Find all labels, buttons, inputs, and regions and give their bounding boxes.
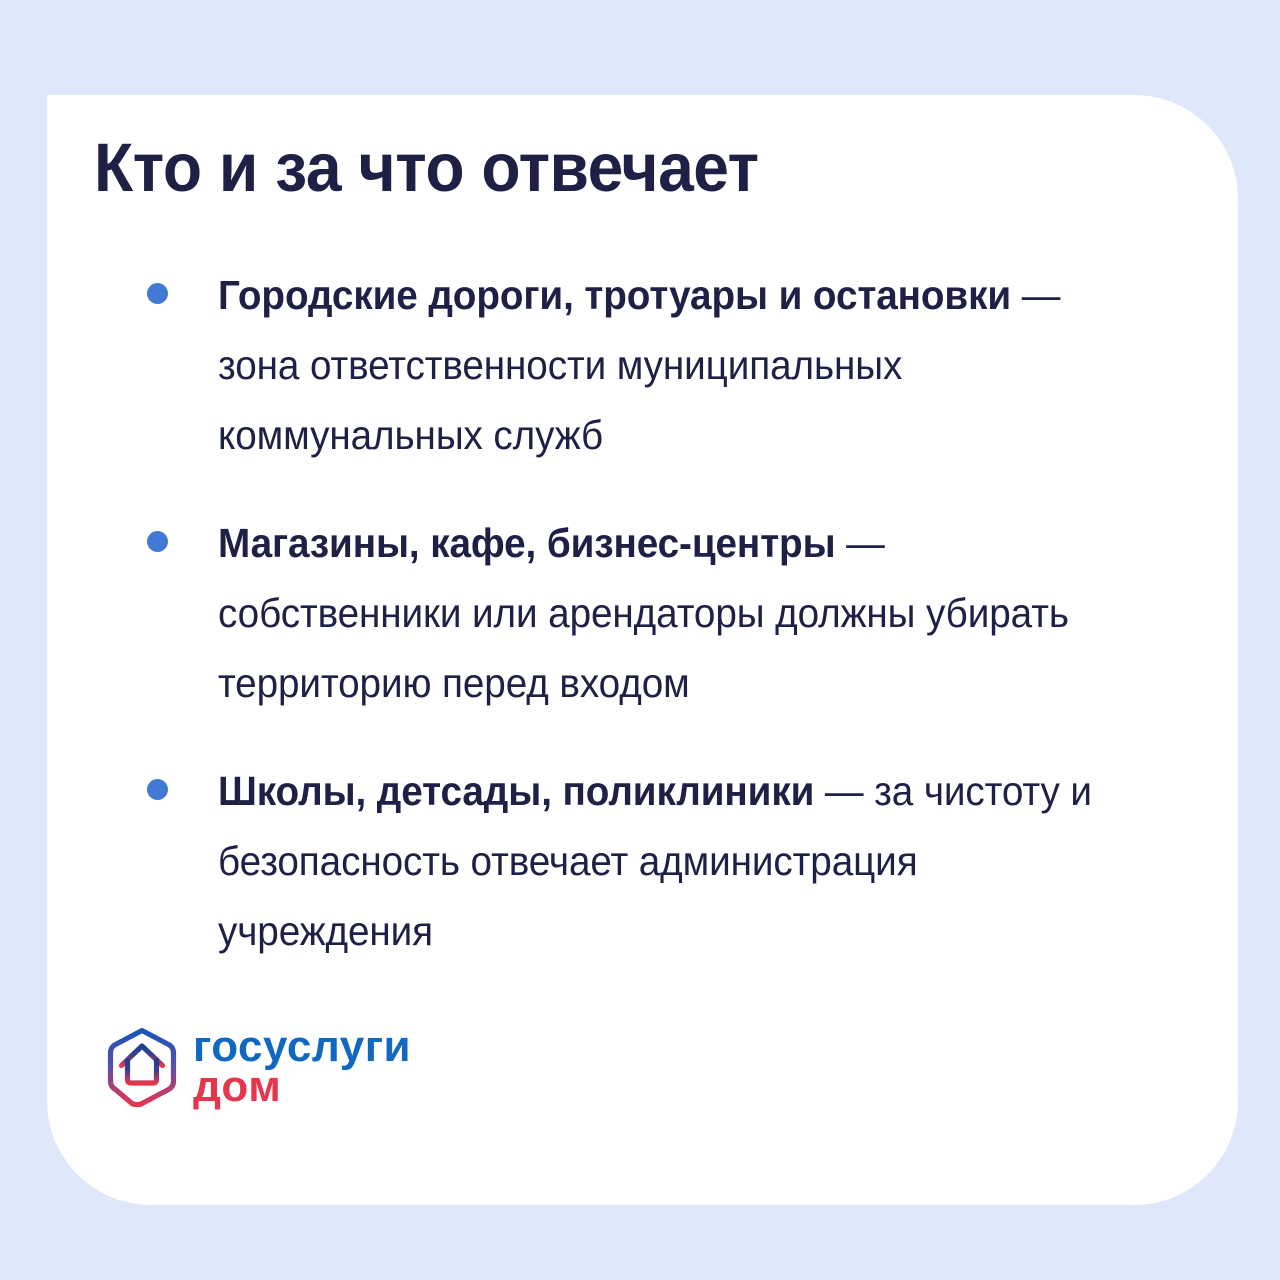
list-item-detail: зона ответственности муниципальных комму… (218, 342, 902, 458)
list-item-text: Городские дороги, тротуары и остановки —… (218, 260, 1093, 470)
list-item: Школы, детсады, поликлиники — за чистоту… (94, 756, 1134, 966)
list-item-text: Магазины, кафе, бизнес-центры — собствен… (218, 508, 1093, 718)
list-item-emphasis: Школы, детсады, поликлиники (218, 768, 814, 814)
bullet-dot-icon (147, 531, 168, 552)
list-item-separator: — (814, 768, 874, 814)
list-item-separator: — (1011, 272, 1060, 318)
list-item-emphasis: Магазины, кафе, бизнес-центры (218, 520, 836, 566)
brand-word-gosuslugi: госуслуги (193, 1027, 411, 1067)
page-title: Кто и за что отвечает (94, 133, 759, 202)
bullet-dot-icon (147, 283, 168, 304)
list-item-separator: — (836, 520, 885, 566)
list-item: Городские дороги, тротуары и остановки —… (94, 260, 1134, 470)
list-item-emphasis: Городские дороги, тротуары и остановки (218, 272, 1011, 318)
brand-logo: госуслуги дом (105, 1027, 411, 1108)
list-item-text: Школы, детсады, поликлиники — за чистоту… (218, 756, 1093, 966)
content-card: Кто и за что отвечает Городские дороги, … (47, 95, 1238, 1205)
responsibility-list: Городские дороги, тротуары и остановки —… (94, 260, 1134, 966)
bullet-dot-icon (147, 779, 168, 800)
list-item-detail: собственники или арендаторы должны убира… (218, 590, 1069, 706)
list-item: Магазины, кафе, бизнес-центры — собствен… (94, 508, 1134, 718)
brand-wordmark: госуслуги дом (193, 1027, 411, 1108)
brand-word-dom: дом (193, 1067, 411, 1107)
gosuslugi-dom-house-hexagon-icon (105, 1027, 179, 1107)
infographic-canvas: Кто и за что отвечает Городские дороги, … (0, 0, 1280, 1280)
